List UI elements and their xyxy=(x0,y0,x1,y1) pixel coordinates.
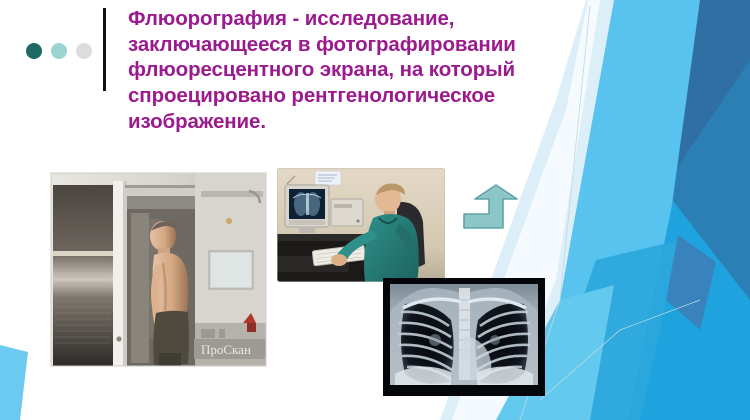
bg-shape-sky-upper xyxy=(560,0,750,420)
bg-shape-navy-top xyxy=(672,0,750,250)
dot-light-teal xyxy=(51,43,67,59)
chest-xray-photo xyxy=(383,278,545,396)
presentation-slide: Флюорография - исследование, заключающее… xyxy=(0,0,750,420)
fluorography-booth-photo: ПроСкан xyxy=(50,172,267,367)
chest-xray-artwork xyxy=(383,278,545,396)
booth-photo-artwork: ПроСкан xyxy=(51,173,266,366)
bg-shape-deep-blue-right xyxy=(662,60,750,330)
dot-gray xyxy=(76,43,92,59)
bent-up-arrow-icon xyxy=(463,183,533,231)
accent-vertical-rule xyxy=(103,8,106,91)
dot-dark-teal xyxy=(26,43,42,59)
bg-shape-navy-notch xyxy=(666,235,716,330)
doctor-at-computer-photo xyxy=(277,168,445,282)
doctor-photo-artwork xyxy=(277,168,445,282)
accent-dots-group xyxy=(26,43,92,59)
bg-shape-azure-midright xyxy=(628,188,750,420)
bg-shape-bottom-left-wedge xyxy=(0,345,28,420)
bg-hairline-diagonal-2 xyxy=(540,300,700,400)
svg-text:ПроСкан: ПроСкан xyxy=(201,342,251,357)
bg-shape-mid-blue-lower xyxy=(540,240,680,420)
slide-title: Флюорография - исследование, заключающее… xyxy=(128,6,548,134)
